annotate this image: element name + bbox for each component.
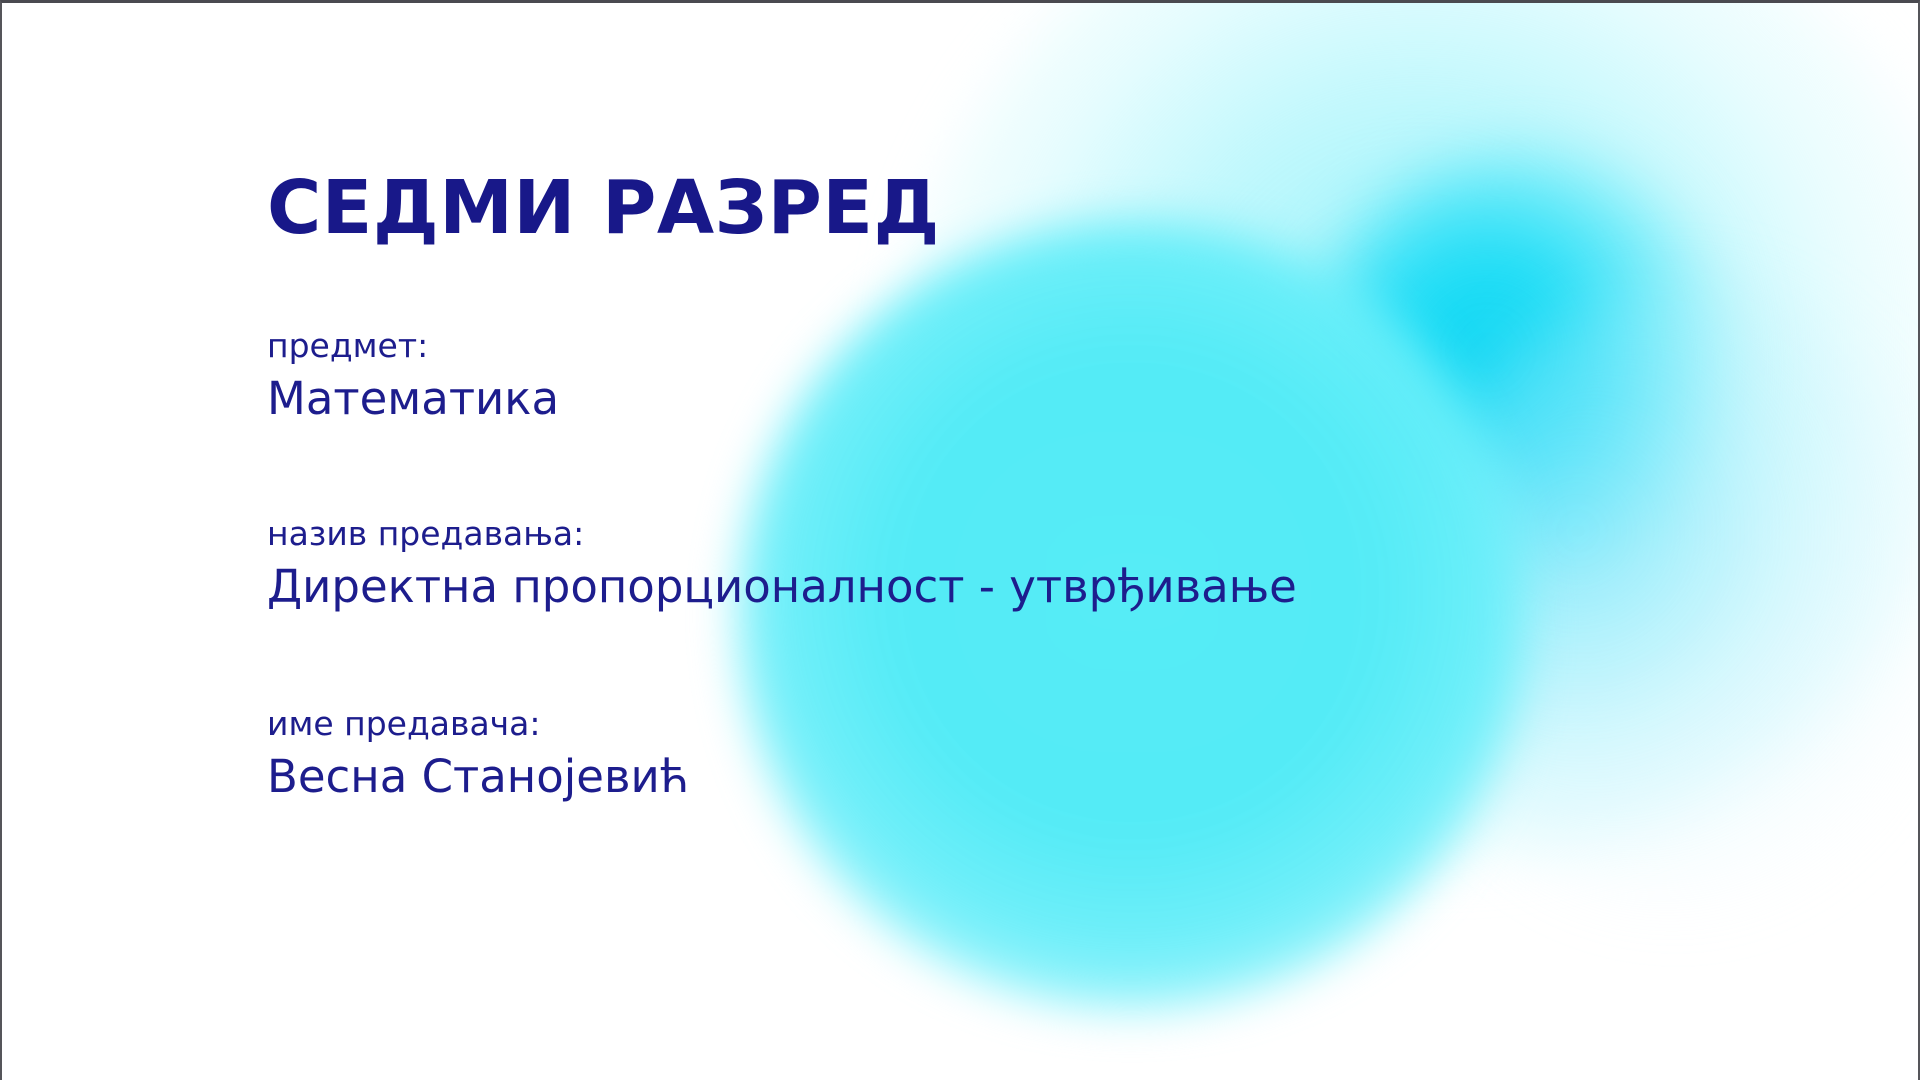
field-lecture-title-label: назив предавања:	[267, 513, 1297, 554]
right-wash-blob-decoration	[1422, 283, 1918, 903]
halo-blob-decoration	[902, 3, 1918, 863]
field-subject-value: Математика	[267, 372, 559, 427]
accent-cyan-blob-decoration	[1307, 153, 1737, 583]
field-subject: предмет: Математика	[267, 325, 559, 427]
field-lecture-title-value: Директна пропорционалност - утврђивање	[267, 560, 1297, 615]
field-lecturer-name: име предавача: Весна Станојевић	[267, 703, 689, 805]
field-lecture-title: назив предавања: Директна пропорционално…	[267, 513, 1297, 615]
field-subject-label: предмет:	[267, 325, 559, 366]
page-title: СЕДМИ РАЗРЕД	[267, 171, 940, 245]
field-lecturer-name-value: Весна Станојевић	[267, 750, 689, 805]
main-cyan-blob-decoration	[737, 221, 1527, 1011]
field-lecturer-name-label: име предавача:	[267, 703, 689, 744]
lecture-title-slide: СЕДМИ РАЗРЕД предмет: Математика назив п…	[0, 0, 1920, 1080]
